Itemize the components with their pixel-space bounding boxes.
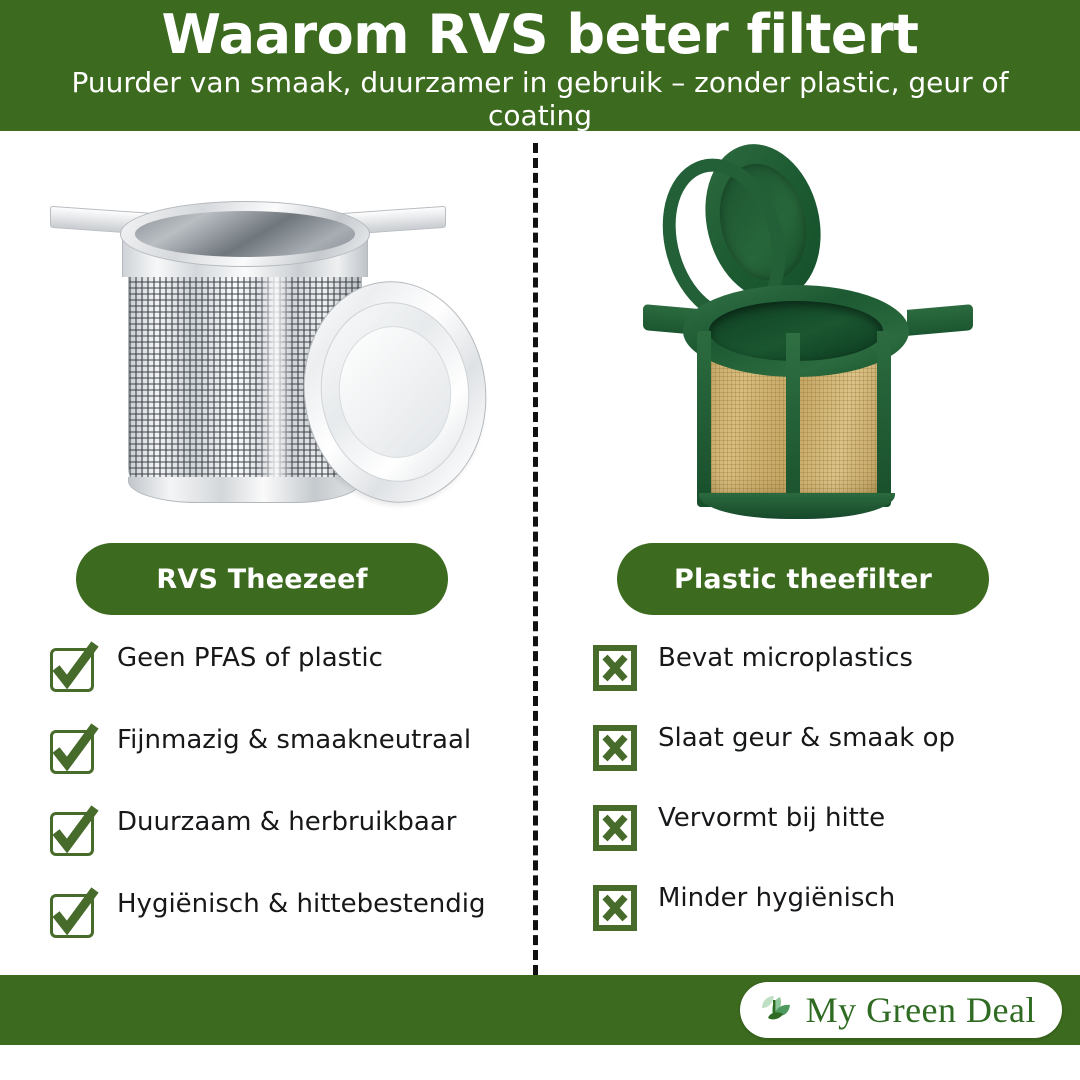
cross-icon <box>591 881 641 933</box>
stainless-steel-infuser-illustration <box>42 159 492 519</box>
cross-icon <box>591 801 641 853</box>
page-title: Waarom RVS beter filtert <box>30 4 1050 66</box>
column-rvs-theezeef: RVS Theezeef Geen PFAS of plastic <box>0 131 533 975</box>
label-plastic-theefilter: Plastic theefilter <box>617 543 989 615</box>
list-item-label: Duurzaam & herbruikbaar <box>117 803 457 839</box>
pill-label-text: RVS Theezeef <box>156 564 367 595</box>
infuser-base <box>128 477 362 503</box>
column-plastic-theefilter: Plastic theefilter Bevat microplastics <box>547 131 1080 975</box>
infuser-rim <box>120 201 370 267</box>
list-item-label: Slaat geur & smaak op <box>658 719 955 755</box>
infographic-page: Waarom RVS beter filtert Puurder van sma… <box>0 0 1080 1080</box>
list-item: Geen PFAS of plastic <box>48 639 533 721</box>
basket-highlight <box>259 269 293 493</box>
list-item-label: Vervormt bij hitte <box>658 799 885 835</box>
list-item: Minder hygiënisch <box>591 879 1080 959</box>
header-banner: Waarom RVS beter filtert Puurder van sma… <box>0 0 1080 131</box>
feature-list-rvs: Geen PFAS of plastic Fijnmazig & smaakne… <box>0 639 533 967</box>
filter-center-strut <box>786 333 800 509</box>
list-item: Bevat microplastics <box>591 639 1080 719</box>
infuser-rim-opening <box>135 211 355 257</box>
check-icon <box>48 805 100 857</box>
filter-side-rib-left <box>697 331 711 507</box>
comparison-area: RVS Theezeef Geen PFAS of plastic <box>0 131 1080 975</box>
leaf-plant-icon <box>754 988 798 1032</box>
pill-label-text: Plastic theefilter <box>674 564 932 595</box>
list-item: Slaat geur & smaak op <box>591 719 1080 799</box>
list-item-label: Minder hygiënisch <box>658 879 895 915</box>
brand-logo-text: My Green Deal <box>806 990 1036 1030</box>
list-item: Fijnmazig & smaakneutraal <box>48 721 533 803</box>
vertical-dashed-divider <box>533 143 538 975</box>
list-item: Hygiënisch & hittebestendig <box>48 885 533 967</box>
plastic-theefilter-product-photo <box>547 131 1080 526</box>
cross-icon <box>591 641 641 693</box>
brand-logo[interactable]: My Green Deal <box>740 982 1062 1038</box>
footer-banner: My Green Deal <box>0 975 1080 1045</box>
cross-icon <box>591 721 641 773</box>
feature-list-plastic: Bevat microplastics Slaat geur & smaak o… <box>547 639 1080 959</box>
filter-tab-right <box>907 304 973 336</box>
list-item: Duurzaam & herbruikbaar <box>48 803 533 885</box>
label-rvs-theezeef: RVS Theezeef <box>76 543 448 615</box>
list-item-label: Hygiënisch & hittebestendig <box>117 885 486 921</box>
check-icon <box>48 641 100 693</box>
list-item-label: Fijnmazig & smaakneutraal <box>117 721 471 757</box>
filter-base <box>699 493 895 519</box>
rvs-theezeef-product-photo <box>0 131 533 526</box>
list-item-label: Bevat microplastics <box>658 639 913 675</box>
list-item: Vervormt bij hitte <box>591 799 1080 879</box>
list-item-label: Geen PFAS of plastic <box>117 639 383 675</box>
page-subtitle: Puurder van smaak, duurzamer in gebruik … <box>30 66 1050 131</box>
check-icon <box>48 887 100 939</box>
filter-side-rib-right <box>877 331 891 507</box>
check-icon <box>48 723 100 775</box>
plastic-filter-illustration <box>629 141 999 521</box>
